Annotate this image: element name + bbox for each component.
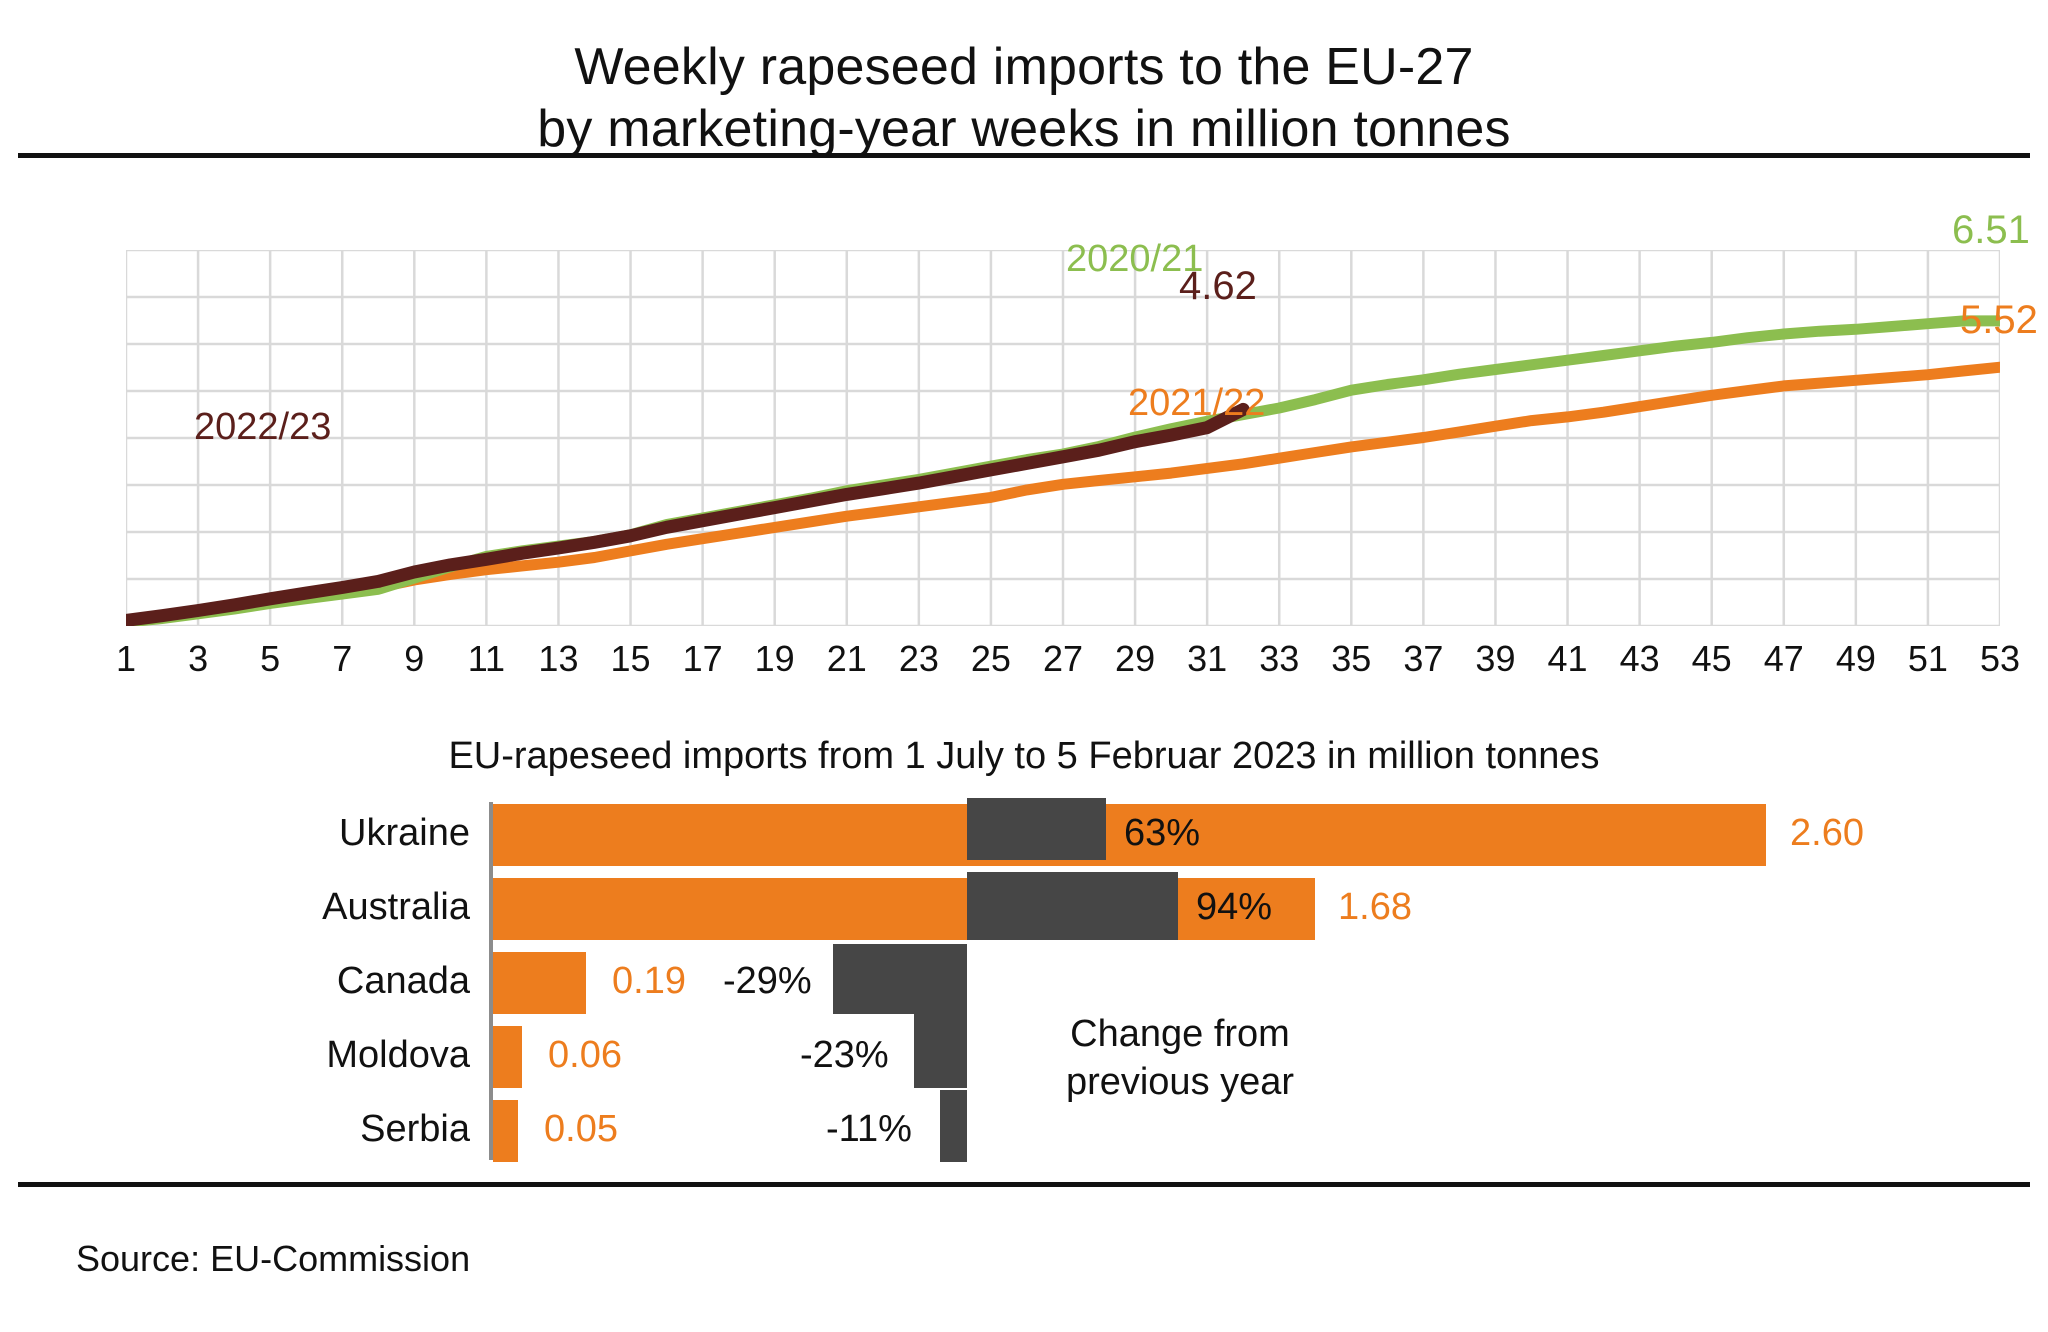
bar-category-label: Moldova [326,1034,470,1077]
x-tick: 3 [188,638,208,680]
bar-row-australia: Australia 94% 1.68 [0,878,2048,940]
bar-value-label-canada: 0.19 [612,960,686,1003]
source-note: Source: EU-Commission [76,1238,470,1280]
page-title: Weekly rapeseed imports to the EU-27 by … [0,36,2048,160]
bar-change-australia [967,872,1178,940]
title-line-2: by marketing-year weeks in million tonne… [0,98,2048,160]
series-label-2021-22: 2021/22 [1128,382,1265,425]
bar-change-moldova [914,1014,967,1088]
x-tick: 37 [1403,638,1443,680]
end-value-2021-22: 5.52 [1960,298,2038,343]
bar-change-serbia [940,1090,967,1162]
x-tick: 31 [1187,638,1227,680]
series-label-2022-23: 2022/23 [194,406,331,449]
x-tick: 49 [1836,638,1876,680]
infographic-page: Weekly rapeseed imports to the EU-27 by … [0,0,2048,1332]
x-tick: 41 [1548,638,1588,680]
x-tick: 11 [468,638,505,680]
change-legend-line-2: previous year [1030,1058,1330,1106]
x-tick: 9 [404,638,424,680]
x-tick: 47 [1764,638,1804,680]
bar-change-canada [833,944,967,1014]
x-tick: 5 [260,638,280,680]
bar-change-label-canada: -29% [723,960,812,1003]
x-tick: 53 [1980,638,2020,680]
x-tick: 13 [538,638,578,680]
change-legend-line-1: Change from [1030,1010,1330,1058]
line-chart-x-axis: 1 3 5 7 9 11 13 15 17 19 21 23 25 27 29 … [126,638,2000,698]
bar-value-label-australia: 1.68 [1338,886,1412,929]
bar-category-label: Ukraine [339,812,470,855]
bar-chart-subheading: EU-rapeseed imports from 1 July to 5 Feb… [0,735,2048,778]
bar-value-moldova [493,1026,522,1088]
end-value-2022-23: 4.62 [1179,264,1257,309]
bar-change-ukraine [967,798,1106,860]
bar-change-label-serbia: -11% [826,1108,912,1151]
title-line-1: Weekly rapeseed imports to the EU-27 [0,36,2048,98]
x-tick: 21 [827,638,867,680]
x-tick: 7 [332,638,352,680]
x-tick: 17 [683,638,723,680]
bar-change-label-ukraine: 63% [1124,812,1200,855]
bar-row-moldova: Moldova -23% 0.06 [0,1026,2048,1088]
top-divider [18,153,2030,158]
bar-row-canada: Canada -29% 0.19 [0,952,2048,1014]
line-chart: 2022/23 2020/21 2021/22 4.62 6.51 5.52 [126,250,2000,626]
bar-chart: Ukraine 63% 2.60 Australia 94% 1.68 Cana… [0,798,2048,1168]
bar-value-label-serbia: 0.05 [544,1108,618,1151]
x-tick: 33 [1259,638,1299,680]
line-chart-svg [126,250,2000,626]
bar-value-serbia [493,1100,518,1162]
x-tick: 15 [611,638,651,680]
bottom-divider [18,1182,2030,1187]
change-legend-note: Change from previous year [1030,1010,1330,1106]
x-tick: 25 [971,638,1011,680]
x-tick: 27 [1043,638,1083,680]
bar-value-label-moldova: 0.06 [548,1034,622,1077]
x-tick: 19 [755,638,795,680]
bar-category-label: Canada [337,960,470,1003]
bar-category-label: Australia [322,886,470,929]
x-tick: 23 [899,638,939,680]
bar-change-label-australia: 94% [1196,886,1272,929]
bar-row-ukraine: Ukraine 63% 2.60 [0,804,2048,866]
bar-value-canada [493,952,586,1014]
x-tick: 29 [1115,638,1155,680]
x-tick: 51 [1908,638,1948,680]
x-tick: 45 [1692,638,1732,680]
x-tick: 35 [1331,638,1371,680]
x-tick: 1 [116,638,136,680]
end-value-2020-21: 6.51 [1952,208,2030,253]
bar-change-label-moldova: -23% [800,1034,889,1077]
x-tick: 39 [1475,638,1515,680]
bar-category-label: Serbia [360,1108,470,1151]
bar-value-label-ukraine: 2.60 [1790,812,1864,855]
bar-row-serbia: Serbia -11% 0.05 [0,1100,2048,1162]
x-tick: 43 [1620,638,1660,680]
bar-value-australia [493,878,1315,940]
